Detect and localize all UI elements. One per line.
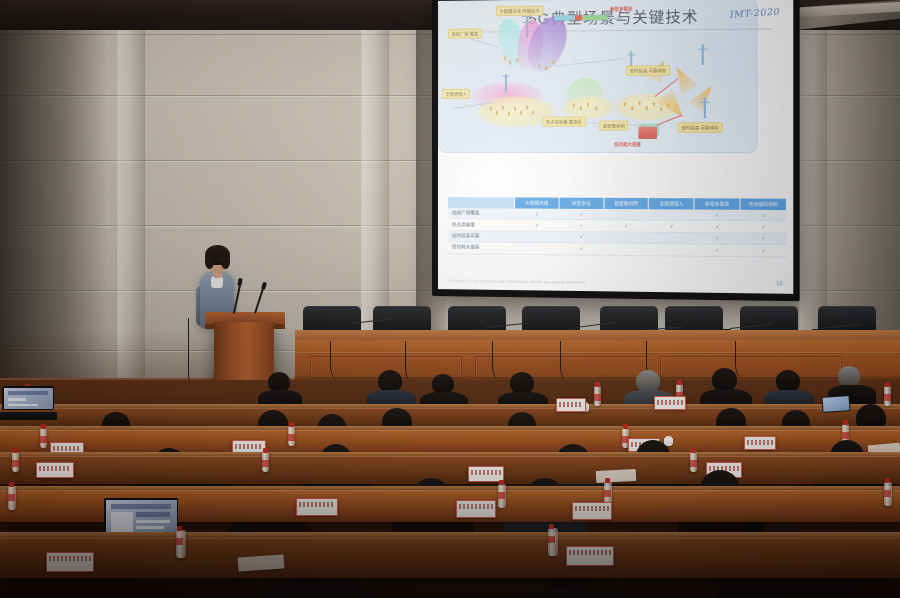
- attendee-head: [432, 374, 454, 394]
- water-bottle: [690, 452, 697, 472]
- table-cell: [604, 232, 649, 244]
- attendee-head: [510, 372, 534, 394]
- attendee-head: [712, 368, 737, 391]
- table-cell: √: [515, 208, 559, 219]
- table-cell: √: [559, 243, 604, 255]
- table-cell: [515, 231, 559, 243]
- cell-tower: [502, 74, 510, 92]
- projection-screen: 5G典型场景与关键技术 IMT-2020: [432, 0, 800, 301]
- table-cell: √: [740, 244, 786, 256]
- attendee-head: [378, 370, 402, 392]
- tablet-device[interactable]: [821, 395, 850, 413]
- table-col-header: 全频谱接入: [649, 198, 694, 209]
- name-card: [36, 462, 74, 478]
- document-paper: [596, 469, 637, 483]
- table-cell: √: [559, 220, 604, 232]
- table-row-label: 热点高容量: [448, 219, 515, 231]
- name-card: [46, 552, 94, 572]
- v2x-vehicle: [638, 127, 657, 139]
- table-cell: √: [604, 220, 649, 232]
- cell-tower: [697, 44, 710, 65]
- water-bottle: [288, 426, 295, 446]
- table-cell: √: [515, 219, 559, 231]
- table-col-header: 大规模天线: [515, 197, 559, 208]
- name-card: [744, 436, 776, 450]
- cell-tower: [699, 98, 712, 119]
- table-col-header: 超密集组网: [604, 198, 649, 209]
- table-cell: √: [559, 231, 604, 243]
- attendee-head: [636, 370, 660, 392]
- name-card: [566, 546, 614, 566]
- table-cell: √: [694, 210, 740, 221]
- table-cell: [515, 242, 559, 254]
- diagram-label: 低时延高 可靠体验: [678, 122, 722, 133]
- table-corner-cell: [448, 197, 515, 208]
- table-cell: [649, 209, 694, 220]
- diagram-label: 低时延高 可靠体验: [626, 65, 670, 76]
- water-bottle: [8, 486, 16, 510]
- spectrum-axis: [610, 18, 622, 19]
- name-card: [654, 396, 686, 410]
- attendee-shoulders: [258, 580, 378, 598]
- scenario-technology-table: 大规模天线 新型多址 超密集组网 全频谱接入 新型多载波 先进编码调制 连续广域…: [448, 197, 787, 257]
- diagram-label: 大规模天线 传输技术: [496, 6, 543, 17]
- table-cell: √: [694, 232, 740, 244]
- audience-desk-row: [0, 538, 900, 578]
- table-row-label: 低时延高可靠: [448, 230, 515, 242]
- table-cell: [649, 232, 694, 244]
- attendee-head: [268, 372, 290, 392]
- diagram-label: 低功耗大连接: [612, 140, 644, 149]
- attendee-head: [838, 366, 860, 386]
- diagram-label: 连续广域 覆盖: [448, 28, 482, 39]
- microphone-base: [345, 324, 354, 328]
- table-cell: √: [740, 210, 786, 222]
- table-col-header: 新型多址: [559, 198, 604, 209]
- diagram-label: 新型多载波: [608, 4, 635, 13]
- diagram-label: 超密集组网: [599, 121, 628, 132]
- table-col-header: 新型多载波: [694, 198, 740, 210]
- slide-surface: 5G典型场景与关键技术 IMT-2020: [438, 0, 793, 294]
- table-col-header: 先进编码调制: [740, 198, 786, 210]
- audience-desk-row: [0, 456, 900, 484]
- table-row-label: 低功耗大连接: [448, 242, 515, 254]
- table-cell: √: [694, 244, 740, 256]
- table-cell: √: [740, 221, 786, 233]
- cable: [492, 341, 513, 381]
- water-bottle: [262, 452, 269, 472]
- water-bottle: [594, 386, 601, 406]
- table-cell: √: [559, 209, 604, 220]
- user-cluster-hotspot: [563, 96, 614, 119]
- table-row-label: 连续广域覆盖: [448, 208, 515, 219]
- macro-tower: [522, 14, 532, 38]
- table-cell: [604, 209, 649, 220]
- laptop[interactable]: [2, 386, 54, 420]
- name-card: [572, 502, 612, 520]
- slide-page-number: 18: [776, 281, 783, 287]
- table-cell: [649, 244, 694, 256]
- water-bottle: [498, 484, 506, 508]
- network-scenario-diagram: 连续广域 覆盖 大规模天线 传输技术 新型多载波 低时延高 可靠体验 全频谱接入…: [438, 0, 757, 153]
- spectrum-bar: [554, 15, 607, 21]
- table-cell: [604, 243, 649, 255]
- water-bottle: [884, 482, 892, 506]
- cable: [560, 341, 585, 383]
- diagram-label: 全频谱接入: [442, 89, 470, 100]
- water-bottle: [40, 428, 47, 448]
- conference-hall-photo: 5G典型场景与关键技术 IMT-2020: [0, 0, 900, 598]
- water-bottle: [548, 528, 558, 556]
- cable: [735, 341, 756, 379]
- name-card: [456, 500, 496, 518]
- eyeglasses-icon: [208, 259, 227, 264]
- table-cell: √: [694, 221, 740, 233]
- water-bottle: [884, 386, 891, 406]
- cable: [405, 341, 432, 385]
- name-card: [296, 498, 338, 516]
- attendee-head: [776, 370, 800, 392]
- name-card: [556, 398, 586, 412]
- diagram-label: 热点高容量 覆盖区: [542, 117, 585, 128]
- table-cell: √: [649, 220, 694, 232]
- cable: [330, 341, 353, 381]
- table-cell: √: [740, 233, 786, 245]
- water-bottle: [176, 530, 186, 558]
- head-table-trim: [295, 352, 900, 354]
- water-bottle: [12, 452, 19, 472]
